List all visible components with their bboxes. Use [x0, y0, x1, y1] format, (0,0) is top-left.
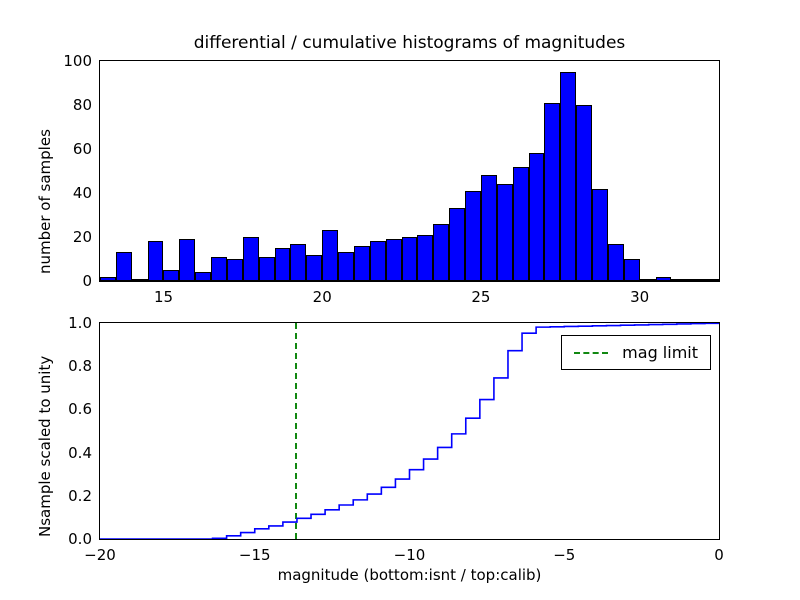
histogram-bar: [132, 279, 148, 281]
top-x-tick-label: 20: [313, 288, 332, 306]
bottom-y-tick-label: 1.0: [40, 314, 92, 332]
histogram-bar: [211, 257, 227, 281]
x-axis-label: magnitude (bottom:isnt / top:calib): [99, 566, 720, 584]
histogram-bar: [417, 235, 433, 281]
histogram-bar: [195, 272, 211, 281]
histogram-bar: [386, 239, 402, 281]
histogram-bar: [544, 103, 560, 281]
histogram-bar: [481, 175, 497, 281]
figure-title: differential / cumulative histograms of …: [99, 33, 720, 53]
top-axes-differential-histogram: [99, 60, 720, 282]
histogram-bar: [354, 246, 370, 281]
histogram-bar: [275, 248, 291, 281]
top-x-tick-label: 25: [471, 288, 490, 306]
histogram-bar: [513, 167, 529, 281]
bottom-x-tick-label: −5: [553, 546, 575, 564]
histogram-bar: [148, 241, 164, 281]
top-y-tick-label: 100: [40, 52, 92, 70]
histogram-bar: [687, 279, 703, 281]
histogram-bar: [433, 224, 449, 281]
top-y-tick-label: 60: [40, 140, 92, 158]
histogram-bar: [322, 230, 338, 281]
histogram-bar: [243, 237, 259, 281]
histogram-bar: [624, 259, 640, 281]
bottom-axes-cumulative-histogram: mag limit: [99, 322, 720, 540]
histogram-bar: [100, 277, 116, 281]
histogram-bar: [116, 252, 132, 281]
figure: differential / cumulative histograms of …: [0, 0, 800, 600]
histogram-bar: [576, 105, 592, 281]
histogram-bar: [306, 255, 322, 281]
histogram-bar: [560, 72, 576, 281]
histogram-bar: [402, 237, 418, 281]
histogram-bar: [259, 257, 275, 281]
histogram-bar: [179, 239, 195, 281]
bottom-x-tick-label: −10: [394, 546, 426, 564]
bottom-y-tick-label: 0.2: [40, 487, 92, 505]
top-x-tick-label: 30: [630, 288, 649, 306]
histogram-bar: [290, 244, 306, 281]
histogram-bar: [449, 208, 465, 281]
legend-label-mag-limit: mag limit: [622, 343, 698, 362]
histogram-bar: [592, 189, 608, 281]
bottom-plot-area: mag limit: [100, 323, 719, 539]
histogram-bar: [497, 184, 513, 281]
green-dashed-line-icon: [574, 352, 608, 354]
top-y-tick-label: 0: [40, 272, 92, 290]
histogram-bar: [529, 153, 545, 281]
bottom-x-tick-label: −15: [239, 546, 271, 564]
top-y-tick-label: 20: [40, 228, 92, 246]
histogram-bar: [640, 279, 656, 281]
legend: mag limit: [561, 335, 711, 370]
histogram-bar: [163, 270, 179, 281]
histogram-bar: [671, 279, 687, 281]
bottom-x-tick-label: 0: [714, 546, 724, 564]
bottom-y-tick-label: 0.8: [40, 357, 92, 375]
histogram-bar: [703, 279, 719, 281]
bottom-y-tick-label: 0.4: [40, 444, 92, 462]
histogram-bar: [370, 241, 386, 281]
histogram-bar: [656, 277, 672, 281]
histogram-bar: [227, 259, 243, 281]
top-y-tick-label: 80: [40, 96, 92, 114]
top-y-tick-label: 40: [40, 184, 92, 202]
histogram-bar: [465, 191, 481, 281]
bottom-x-tick-label: −20: [84, 546, 116, 564]
histogram-bar: [608, 244, 624, 281]
top-plot-area: [100, 61, 719, 281]
top-x-tick-label: 15: [154, 288, 173, 306]
histogram-bar: [338, 252, 354, 281]
bottom-y-tick-label: 0.6: [40, 400, 92, 418]
